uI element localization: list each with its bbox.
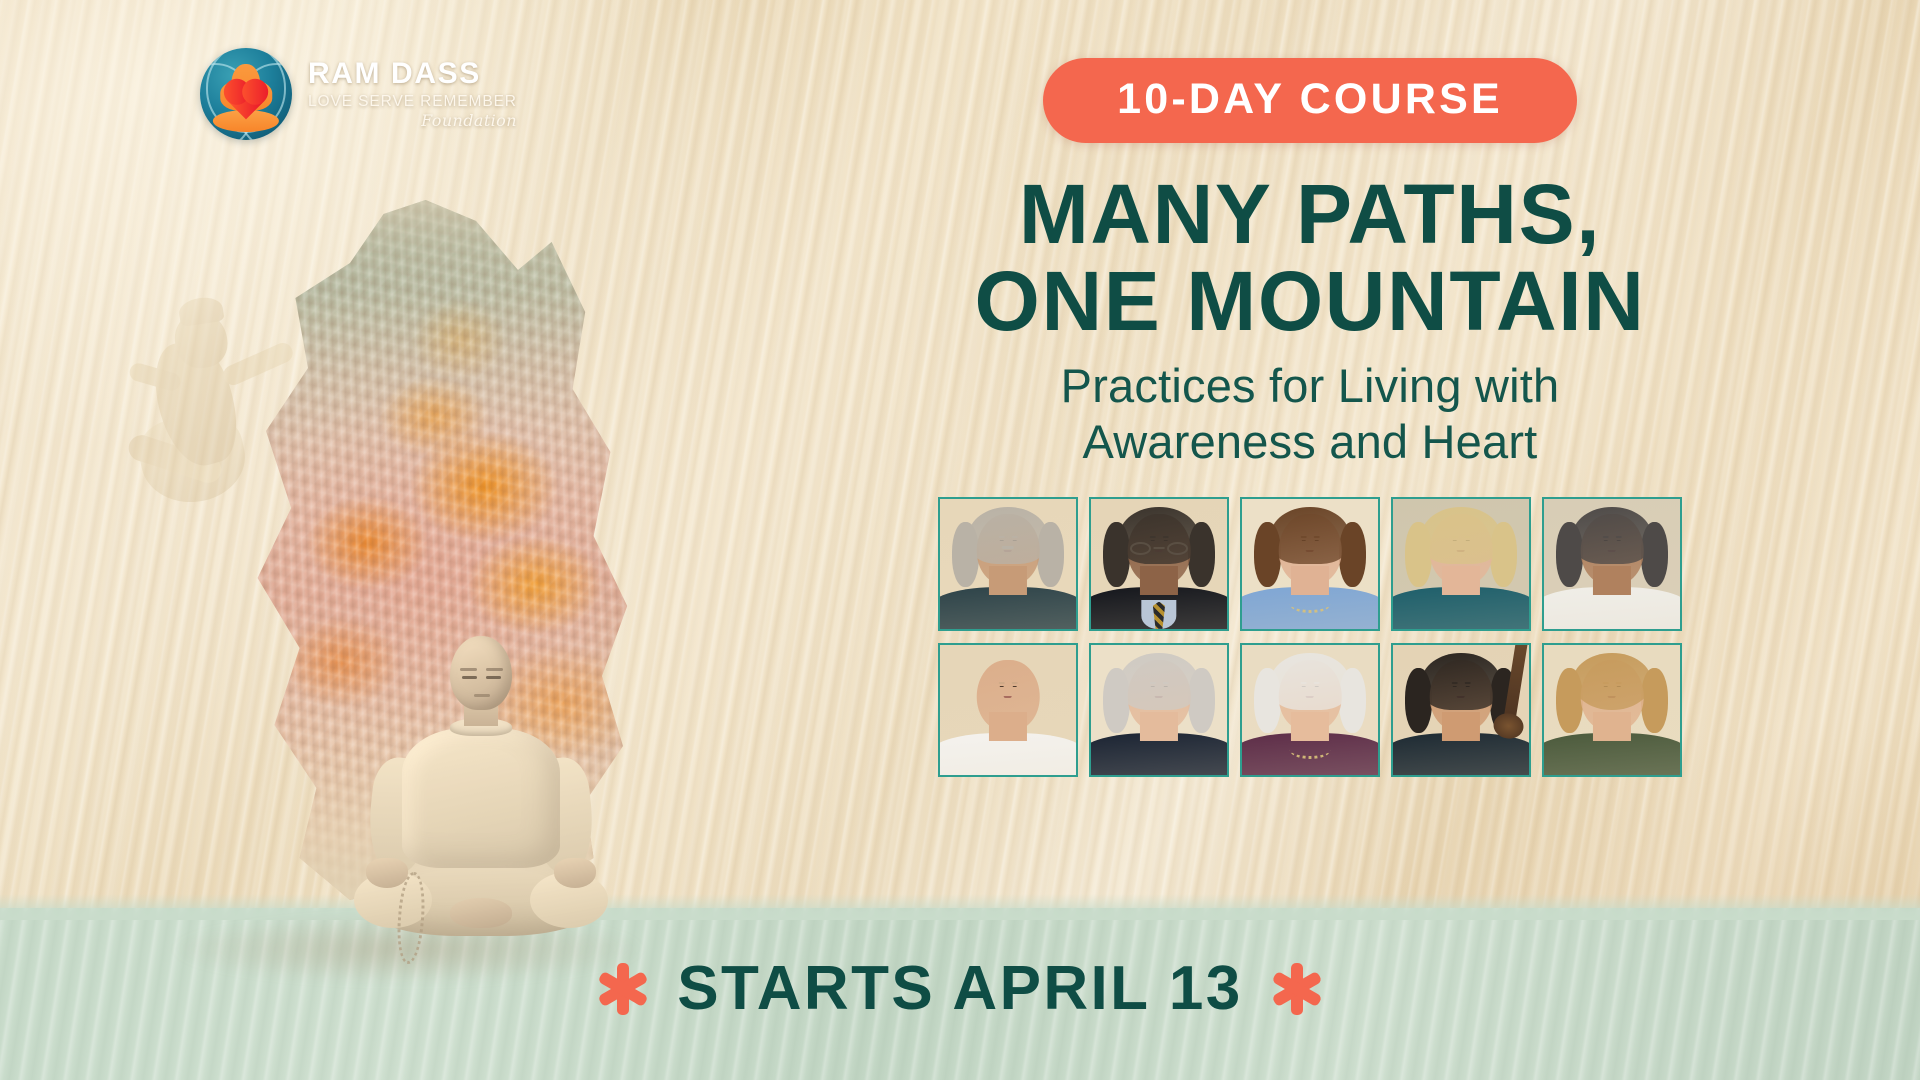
meditating-figure — [346, 636, 614, 936]
brand-suffix: Foundation — [421, 113, 517, 129]
speaker-photo-5[interactable] — [1542, 497, 1682, 631]
sparkle-asterisk-icon-left — [597, 963, 649, 1015]
subtitle-line-1: Practices for Living with — [1061, 358, 1560, 414]
headline-line-1: MANY PATHS, — [975, 171, 1646, 258]
portrait-image — [1242, 499, 1378, 629]
brand-tagline: LOVE SERVE REMEMBER — [308, 94, 517, 110]
lotus-meditation-heart-icon — [200, 48, 292, 140]
subtitle-line-2: Awareness and Heart — [1061, 414, 1560, 470]
hanuman-statue-icon — [123, 296, 298, 536]
speaker-photo-4[interactable] — [1391, 497, 1531, 631]
portrait-image — [1393, 499, 1529, 629]
brand-logo-text: RAM DASS LOVE SERVE REMEMBER Foundation — [308, 59, 517, 130]
mountain-artwork — [128, 188, 688, 978]
sparkle-asterisk-icon-right — [1271, 963, 1323, 1015]
speaker-photo-8[interactable] — [1240, 643, 1380, 777]
speaker-photo-9[interactable] — [1391, 643, 1531, 777]
promo-canvas: RAM DASS LOVE SERVE REMEMBER Foundation … — [0, 0, 1920, 1080]
brand-logo[interactable]: RAM DASS LOVE SERVE REMEMBER Foundation — [200, 48, 517, 140]
speaker-photo-10[interactable] — [1542, 643, 1682, 777]
meditator-head — [450, 636, 512, 710]
portrait-image — [940, 499, 1076, 629]
portrait-image — [1393, 645, 1529, 775]
portrait-image — [1091, 499, 1227, 629]
speaker-photo-2[interactable] — [1089, 497, 1229, 631]
portrait-image — [1544, 645, 1680, 775]
speaker-photo-7[interactable] — [1089, 643, 1229, 777]
rock-top-fade — [224, 200, 644, 290]
start-date-label: STARTS APRIL 13 — [677, 953, 1242, 1024]
cta-row: STARTS APRIL 13 — [0, 953, 1920, 1024]
speaker-photo-6[interactable] — [938, 643, 1078, 777]
headline-line-2: ONE MOUNTAIN — [975, 258, 1646, 345]
portrait-image — [1544, 499, 1680, 629]
speaker-photo-1[interactable] — [938, 497, 1078, 631]
page-subtitle: Practices for Living with Awareness and … — [1061, 358, 1560, 471]
brand-name: RAM DASS — [308, 59, 517, 89]
portrait-image — [940, 645, 1076, 775]
course-badge[interactable]: 10-DAY COURSE — [1043, 58, 1577, 143]
speaker-grid — [938, 497, 1682, 777]
portrait-image — [1242, 645, 1378, 775]
content-column: 10-DAY COURSE MANY PATHS, ONE MOUNTAIN P… — [700, 0, 1920, 1080]
portrait-image — [1091, 645, 1227, 775]
page-title: MANY PATHS, ONE MOUNTAIN — [975, 171, 1646, 344]
speaker-photo-3[interactable] — [1240, 497, 1380, 631]
